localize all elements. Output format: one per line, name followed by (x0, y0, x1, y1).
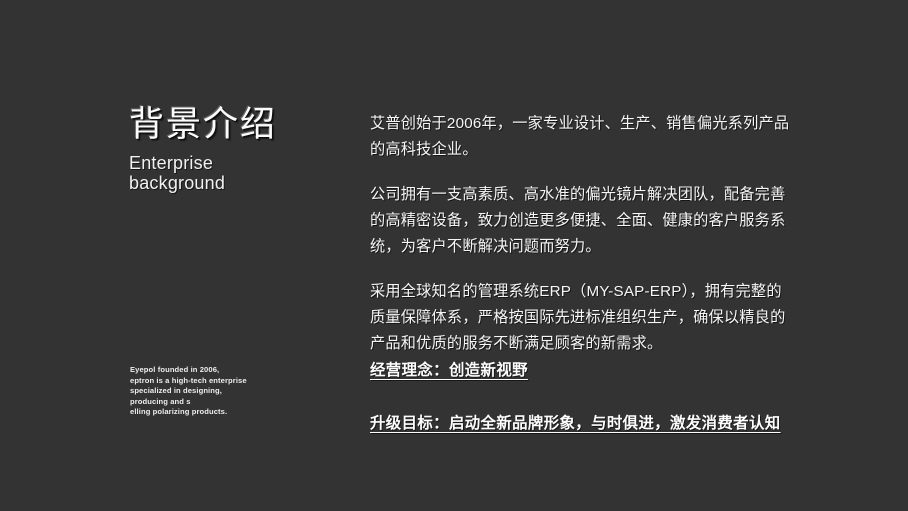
paragraph-3-line-2: 质量保障体系，严格按国际先进标准组织生产，确保以精良的 (370, 305, 840, 331)
page-subtitle-line-1: Enterprise (129, 153, 339, 173)
page-title: 背景介绍 (129, 104, 339, 146)
english-summary-line-1: Eyepol founded in 2006, (130, 365, 310, 376)
slogan-upgrade-goal: 升级目标：启动全新品牌形象，与时俱进，激发消费者认知 (370, 413, 850, 435)
slide-canvas: 背景介绍 Enterprise background Eyepol founde… (0, 0, 908, 511)
heading-block: 背景介绍 Enterprise background (129, 104, 339, 193)
paragraph-2-line-1: 公司拥有一支高素质、高水准的偏光镜片解决团队，配备完善 (370, 182, 840, 208)
english-summary-line-2: eptron is a high-tech enterprise (130, 376, 310, 387)
paragraph-3-line-3: 产品和优质的服务不断满足顾客的新需求。 (370, 331, 840, 357)
paragraph-2-line-2: 的高精密设备，致力创造更多便捷、全面、健康的客户服务系 (370, 208, 840, 234)
english-summary-line-3: specialized in designing, (130, 386, 310, 397)
body-text-block: 艾普创始于2006年，一家专业设计、生产、销售偏光系列产品 的高科技企业。 公司… (370, 111, 840, 357)
page-subtitle-line-2: background (129, 173, 339, 193)
paragraph-1: 艾普创始于2006年，一家专业设计、生产、销售偏光系列产品 的高科技企业。 (370, 111, 840, 163)
english-summary-line-5: elling polarizing products. (130, 407, 310, 418)
english-summary-block: Eyepol founded in 2006, eptron is a high… (130, 365, 310, 418)
english-summary-line-4: producing and s (130, 397, 310, 408)
paragraph-3: 采用全球知名的管理系统ERP（MY-SAP-ERP），拥有完整的 质量保障体系，… (370, 279, 840, 357)
paragraph-2-line-3: 统，为客户不断解决问题而努力。 (370, 234, 840, 260)
paragraph-2: 公司拥有一支高素质、高水准的偏光镜片解决团队，配备完善 的高精密设备，致力创造更… (370, 182, 840, 260)
paragraph-1-line-2: 的高科技企业。 (370, 137, 840, 163)
paragraph-1-line-1: 艾普创始于2006年，一家专业设计、生产、销售偏光系列产品 (370, 111, 840, 137)
page-subtitle: Enterprise background (129, 153, 339, 193)
slogan-philosophy: 经营理念：创造新视野 (370, 360, 850, 382)
slogan-block: 经营理念：创造新视野 升级目标：启动全新品牌形象，与时俱进，激发消费者认知 (370, 360, 850, 435)
paragraph-3-line-1: 采用全球知名的管理系统ERP（MY-SAP-ERP），拥有完整的 (370, 279, 840, 305)
